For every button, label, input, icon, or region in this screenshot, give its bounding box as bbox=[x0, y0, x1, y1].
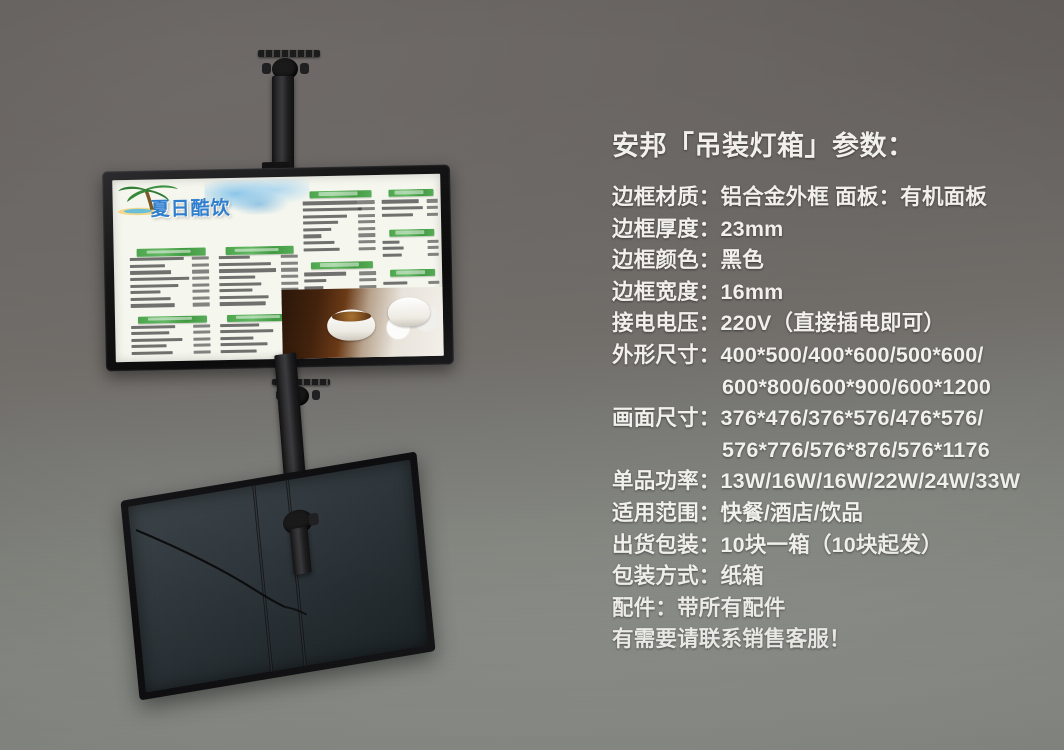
menu-section-header bbox=[388, 188, 434, 196]
spec-line: 边框颜色：黑色 bbox=[612, 245, 1052, 277]
lightbox-front-unit: 夏日酷饮 bbox=[102, 165, 454, 372]
rear-pivot-knob bbox=[308, 513, 319, 527]
menu-rows bbox=[132, 324, 211, 359]
product-photo: 夏日酷饮 bbox=[0, 0, 1064, 750]
mount-plate-upper bbox=[258, 50, 320, 57]
spec-line: 适用范围：快餐/酒店/饮品 bbox=[612, 498, 1052, 530]
spec-title: 安邦「吊装灯箱」参数： bbox=[612, 126, 1052, 166]
menu-rows bbox=[303, 201, 376, 255]
spec-line: 576*776/576*876/576*1176 bbox=[612, 435, 1052, 467]
menu-section-header bbox=[390, 268, 436, 276]
spec-line: 边框宽度：16mm bbox=[612, 277, 1052, 309]
spec-text-block: 安邦「吊装灯箱」参数： 边框材质：铝合金外框 面板：有机面板边框厚度：23mm边… bbox=[612, 126, 1052, 656]
spec-line: 画面尺寸：376*476/376*576/476*576/ bbox=[612, 403, 1052, 435]
menu-headline-art: 夏日酷饮 bbox=[112, 176, 323, 242]
menu-rows bbox=[382, 239, 438, 260]
spec-line: 有需要请联系销售客服！ bbox=[612, 624, 1052, 656]
lightbox-rear-frame bbox=[120, 451, 435, 700]
menu-section-header bbox=[225, 246, 294, 255]
power-cable bbox=[128, 460, 428, 693]
spec-line: 600*800/600*900/600*1200 bbox=[612, 372, 1052, 404]
spec-line: 边框材质：铝合金外框 面板：有机面板 bbox=[612, 182, 1052, 214]
lightbox-rear-unit bbox=[120, 451, 435, 700]
menu-section-header bbox=[138, 315, 207, 324]
coffee-cup bbox=[388, 296, 430, 326]
panel-rib bbox=[252, 486, 273, 672]
lightbox-rear-panel bbox=[128, 460, 428, 693]
mount-knob-lower-right bbox=[312, 390, 320, 400]
lightbox-bezel: 夏日酷饮 bbox=[102, 165, 454, 372]
plate-screw-holes bbox=[258, 50, 320, 57]
mount-pole-upper bbox=[272, 76, 294, 174]
mount-knob-upper-right bbox=[300, 63, 309, 74]
spec-line: 接电电压：220V（直接插电即可） bbox=[612, 308, 1052, 340]
menu-section-header bbox=[137, 248, 206, 257]
menu-section-header bbox=[389, 228, 435, 236]
menu-rows bbox=[130, 257, 210, 311]
spec-line-list: 边框材质：铝合金外框 面板：有机面板边框厚度：23mm边框颜色：黑色边框宽度：1… bbox=[612, 182, 1052, 656]
spec-line: 出货包装：10块一箱（10块起发） bbox=[612, 530, 1052, 562]
menu-panel: 夏日酷饮 bbox=[112, 174, 444, 363]
spec-line: 单品功率：13W/16W/16W/22W/24W/33W bbox=[612, 466, 1052, 498]
spec-line: 配件：带所有配件 bbox=[612, 593, 1052, 625]
mount-knob-upper-left bbox=[262, 63, 271, 74]
menu-section-header bbox=[311, 261, 373, 270]
coffee-photo bbox=[282, 287, 444, 359]
spec-line: 包装方式：纸箱 bbox=[612, 561, 1052, 593]
spec-line: 边框厚度：23mm bbox=[612, 214, 1052, 246]
menu-headline-text: 夏日酷饮 bbox=[150, 193, 231, 222]
menu-rows bbox=[382, 199, 438, 220]
menu-section-header bbox=[309, 190, 371, 199]
spec-line: 外形尺寸：400*500/400*600/500*600/ bbox=[612, 340, 1052, 372]
